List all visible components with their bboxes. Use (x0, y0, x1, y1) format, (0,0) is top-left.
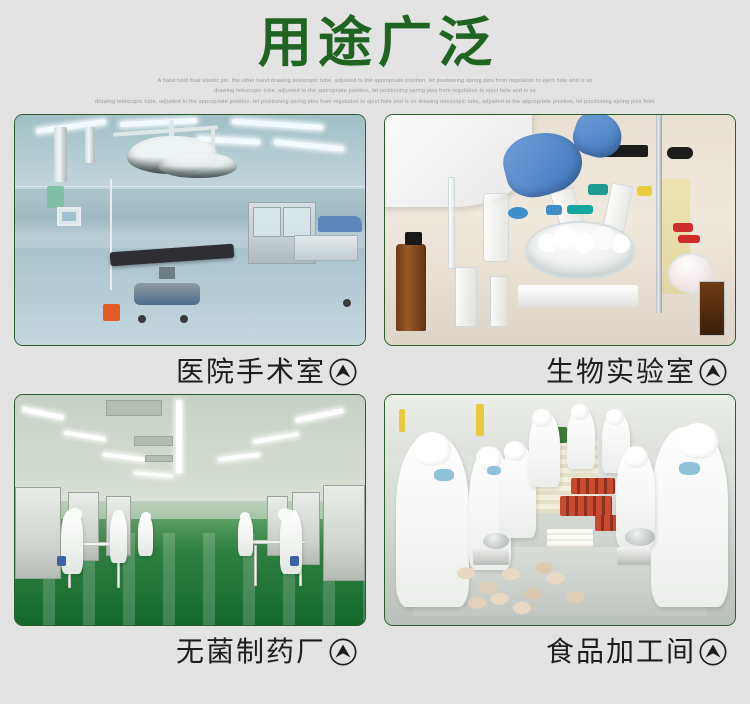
biology-laboratory-photo (385, 115, 735, 345)
intro-paragraph: A hand hold float elastic pin, the other… (0, 76, 750, 107)
page-header: 用途广泛 (0, 14, 750, 72)
food-processing-room-photo (385, 395, 735, 625)
card-caption-laboratory[interactable]: 生物实验室 (384, 346, 736, 394)
application-card-grid: 医院手术室 (14, 114, 736, 675)
caption-label: 食品加工间 (546, 637, 696, 667)
photo-frame-laboratory (384, 114, 736, 346)
intro-line-1: A hand hold float elastic pin, the other… (0, 76, 750, 86)
chevron-up-circle-icon[interactable] (328, 357, 358, 387)
card-caption-food[interactable]: 食品加工间 (384, 626, 736, 674)
photo-frame-food (384, 394, 736, 626)
application-card-food[interactable]: 食品加工间 (384, 394, 736, 675)
intro-line-3: drawing telescopic tube, adjusted to the… (0, 97, 750, 107)
card-caption-pharma[interactable]: 无菌制药厂 (14, 626, 366, 674)
chevron-up-circle-icon[interactable] (328, 637, 358, 667)
sterile-pharmaceutical-factory-photo (15, 395, 365, 625)
caption-label: 生物实验室 (546, 357, 696, 387)
chevron-up-circle-icon[interactable] (698, 637, 728, 667)
page-title: 用途广泛 (0, 14, 750, 72)
application-card-laboratory[interactable]: 生物实验室 (384, 114, 736, 394)
promo-page: 用途广泛 A hand hold float elastic pin, the … (0, 0, 750, 704)
application-card-hospital[interactable]: 医院手术室 (14, 114, 366, 394)
intro-line-2: drawing telescopic tube, adjusted to the… (0, 86, 750, 96)
photo-frame-pharma (14, 394, 366, 626)
photo-frame-hospital (14, 114, 366, 346)
caption-label: 医院手术室 (176, 357, 326, 387)
hospital-operating-room-photo (15, 115, 365, 345)
card-caption-hospital[interactable]: 医院手术室 (14, 346, 366, 394)
application-card-pharma[interactable]: 无菌制药厂 (14, 394, 366, 675)
caption-label: 无菌制药厂 (176, 637, 326, 667)
chevron-up-circle-icon[interactable] (698, 357, 728, 387)
